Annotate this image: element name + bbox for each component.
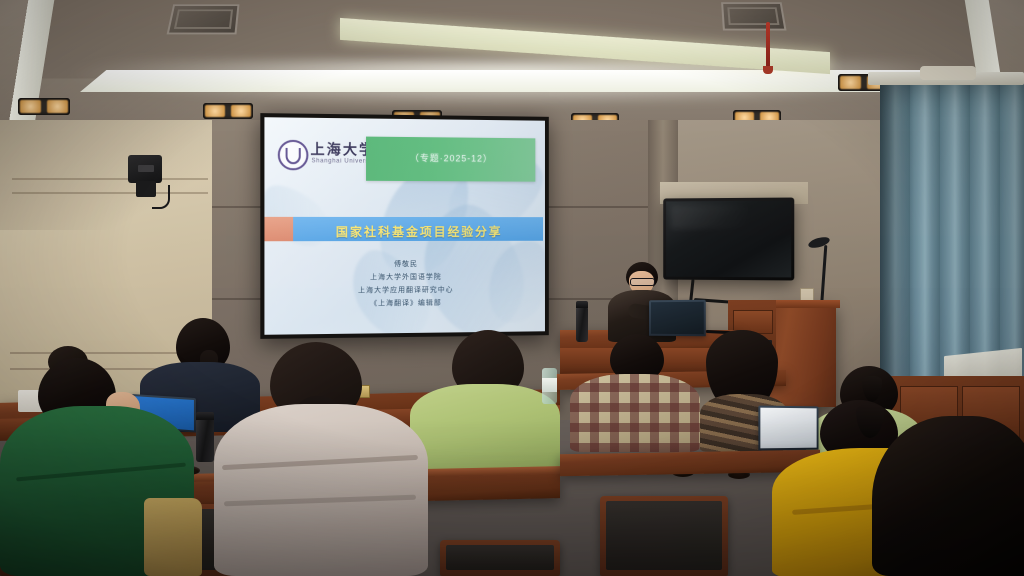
chair-back-4 [440, 540, 560, 576]
audience-member-a3 [214, 342, 434, 576]
tv-screen-glare [671, 204, 749, 229]
presenter-laptop [649, 300, 706, 337]
wall-speaker-assembly [128, 155, 172, 213]
projection-screen: 上海大学 Shanghai University （专题·2025-12） 国家… [264, 117, 545, 335]
audience-member-a8 [872, 416, 1024, 576]
screen-light-falloff [264, 117, 545, 335]
air-vent-left [167, 4, 240, 34]
sprinkler-head [763, 66, 773, 74]
a3-beige-puffer [214, 404, 428, 576]
presenter-thermos-cap [576, 301, 588, 308]
chair-back-2 [600, 496, 728, 576]
audience-member-a5 [570, 334, 700, 454]
projection-screen-frame: 上海大学 Shanghai University （专题·2025-12） 国家… [260, 113, 548, 339]
downlight-2 [203, 103, 253, 119]
ceiling [0, 0, 1024, 132]
speaker-cable [152, 185, 170, 209]
wall-seam-2 [12, 192, 208, 194]
downlight-1 [18, 98, 70, 115]
wall-seam-1 [12, 178, 208, 180]
water-bottle-label [542, 378, 557, 392]
podium-top-surface [766, 300, 840, 308]
air-vent-right [721, 2, 786, 30]
lecture-hall-photo: 上海大学 Shanghai University （专题·2025-12） 国家… [0, 0, 1024, 576]
a5-plaid-shirt [570, 374, 700, 452]
handbag [144, 498, 202, 576]
speaker-grille [138, 165, 154, 172]
wall-shadow-gradient [0, 120, 215, 230]
presenter-glasses [630, 278, 655, 286]
presenter-laptop-screen [651, 302, 704, 334]
fire-sprinkler-drop [766, 22, 770, 70]
curtain-bracket [920, 66, 976, 80]
a8-hair [872, 416, 1024, 576]
